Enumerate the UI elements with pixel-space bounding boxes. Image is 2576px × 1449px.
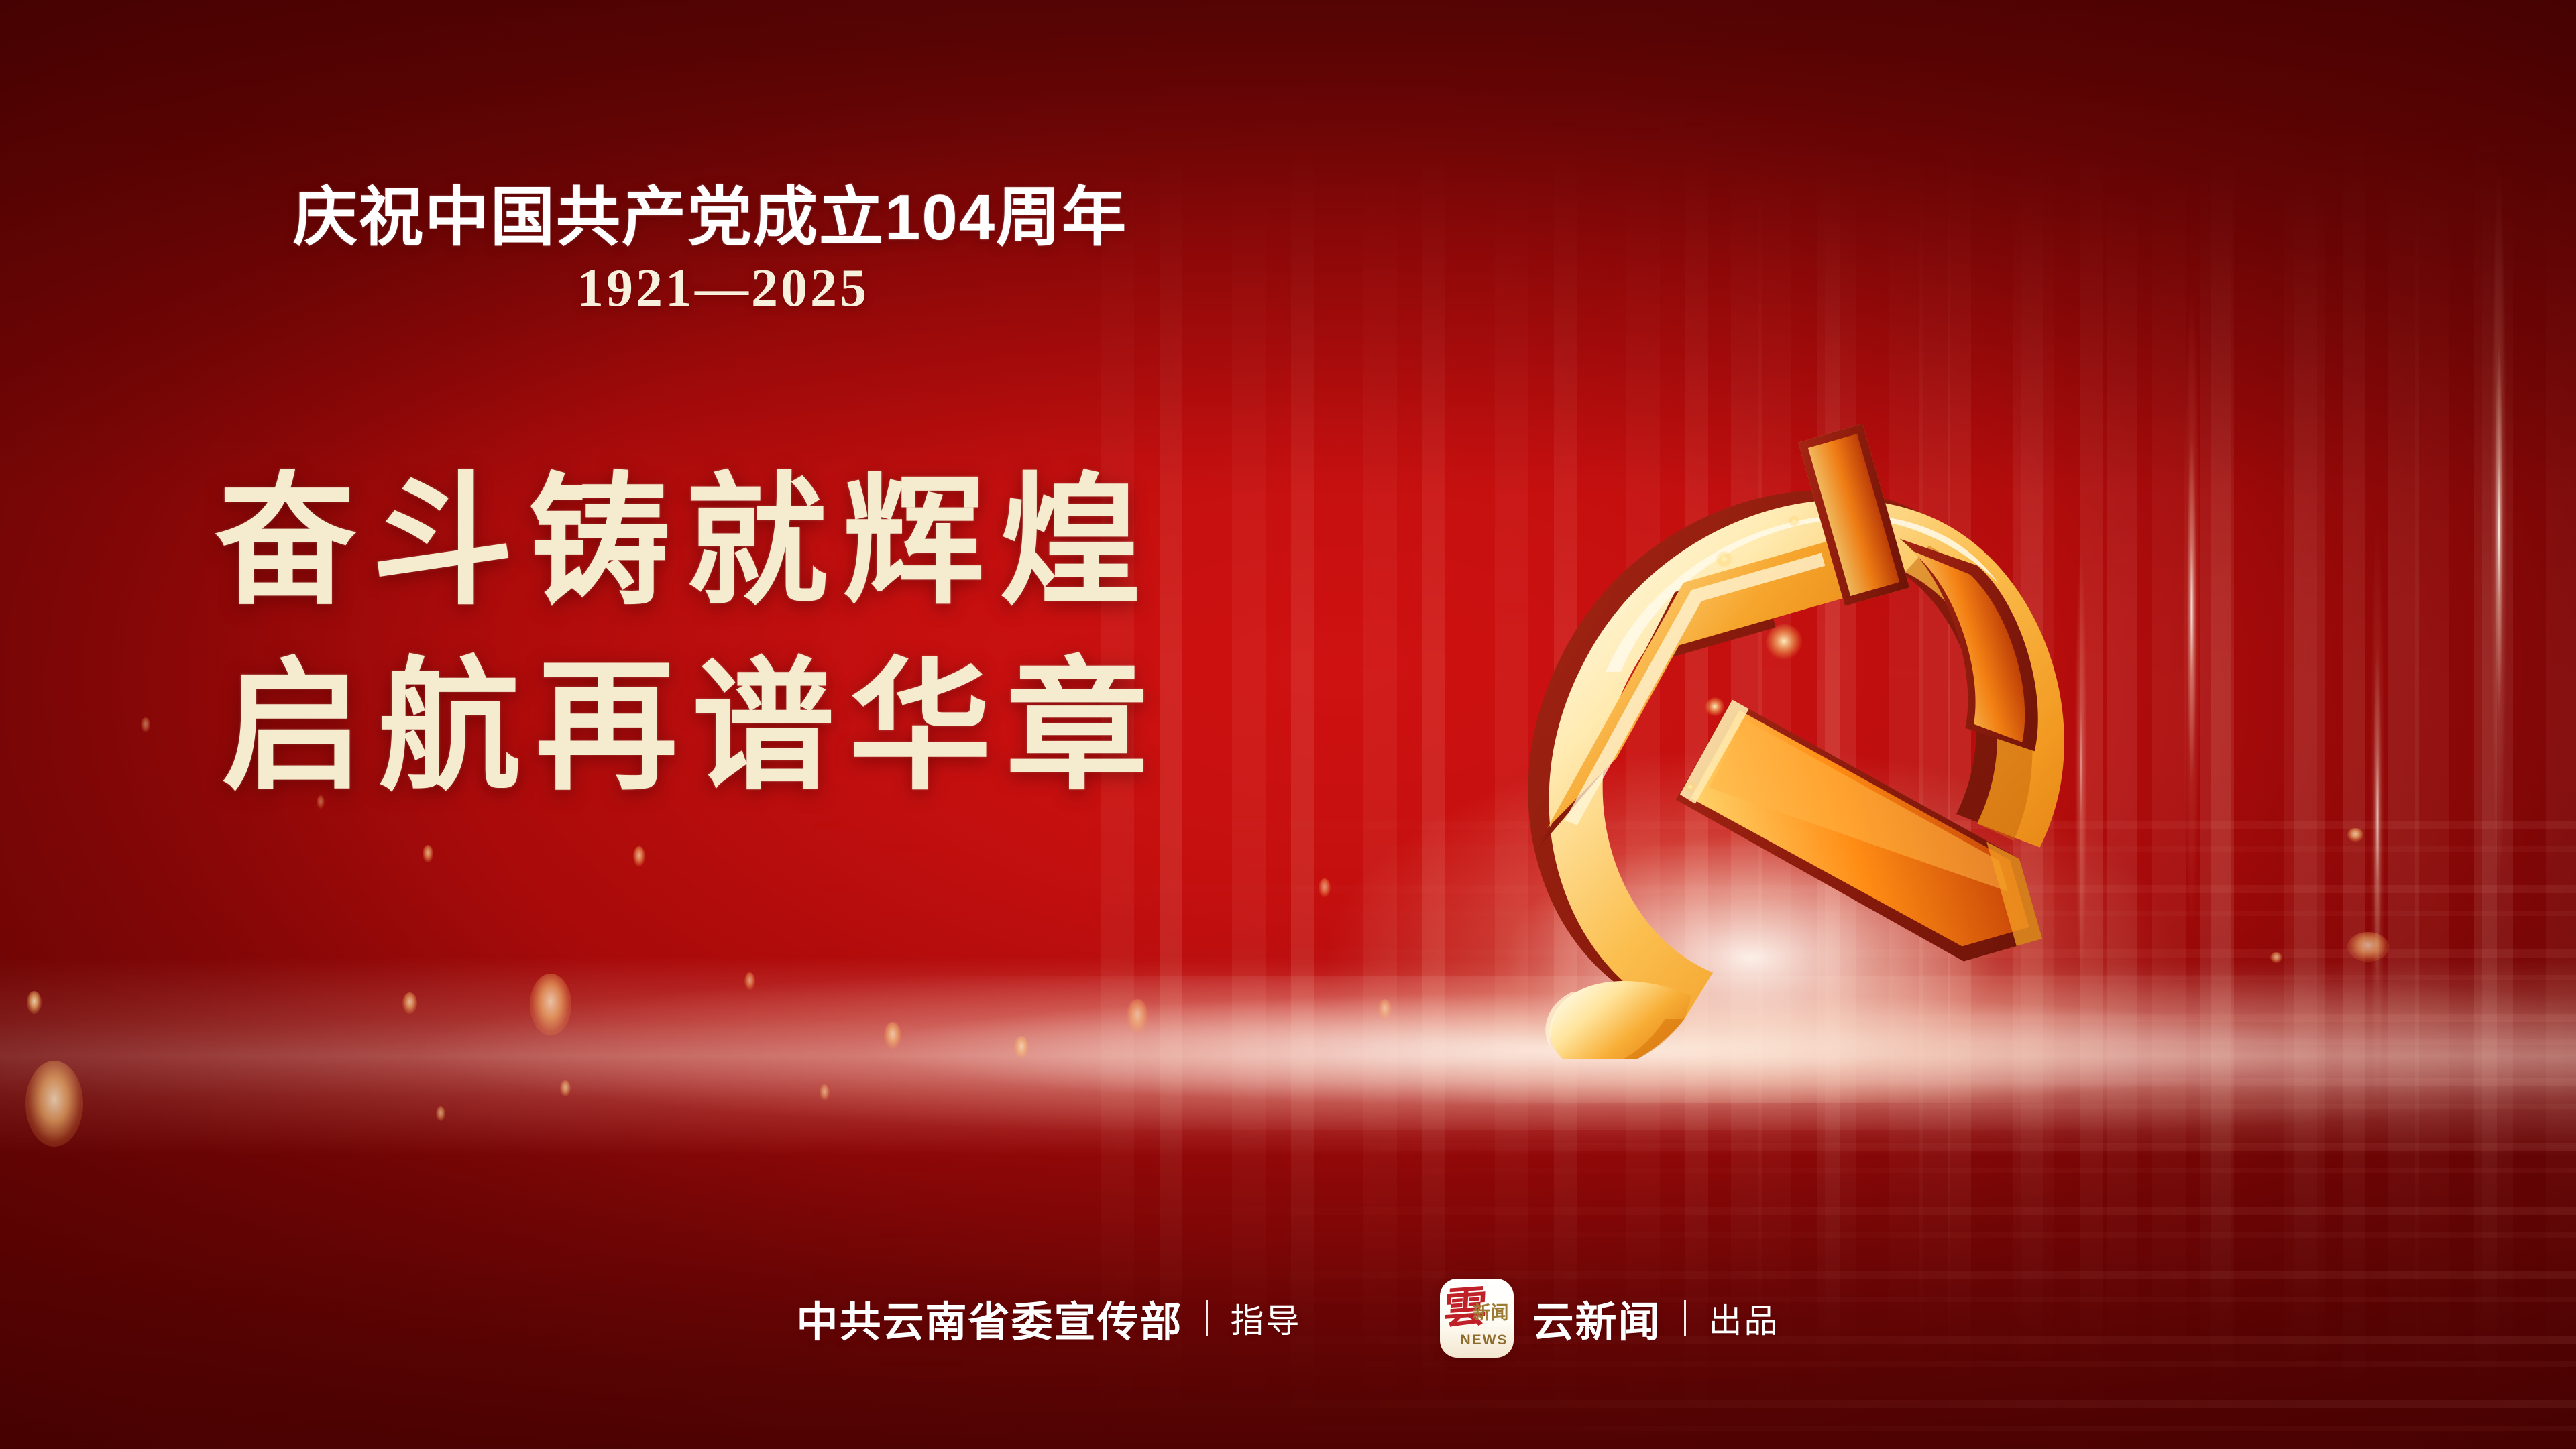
headline-line-1: 奋斗铸就辉煌 bbox=[215, 451, 1163, 636]
headline-slogan: 奋斗铸就辉煌 启航再谱华章 bbox=[215, 451, 1163, 820]
footer-bar: 中共云南省委宣传部 指导 雲 新闻 NEWS 云新闻 出品 bbox=[0, 1278, 2576, 1358]
yun-news-logo-icon: 雲 新闻 NEWS bbox=[1440, 1279, 1514, 1358]
brand-name-label: 云新闻 bbox=[1532, 1288, 1661, 1348]
credit-divider bbox=[1206, 1300, 1208, 1336]
headline-line-2: 启航再谱华章 bbox=[215, 636, 1163, 821]
poster-canvas: 庆祝中国共产党成立104周年 1921—2025 奋斗铸就辉煌 启航再谱华章 中… bbox=[0, 0, 2576, 1449]
text-content: 庆祝中国共产党成立104周年 1921—2025 奋斗铸就辉煌 启航再谱华章 bbox=[0, 0, 2576, 1449]
logo-glyph-news: NEWS bbox=[1461, 1333, 1508, 1347]
producer-credit: 雲 新闻 NEWS 云新闻 出品 bbox=[1440, 1279, 1780, 1358]
year-range-label: 1921—2025 bbox=[577, 258, 869, 319]
brand-divider bbox=[1684, 1300, 1686, 1336]
footer-spacer bbox=[1302, 1318, 1440, 1319]
producer-role-label: 出品 bbox=[1709, 1294, 1780, 1342]
guidance-credit: 中共云南省委宣传部 指导 bbox=[796, 1288, 1301, 1348]
guidance-organization: 中共云南省委宣传部 bbox=[796, 1288, 1182, 1348]
logo-glyph-xinwen: 新闻 bbox=[1473, 1304, 1509, 1322]
guidance-role-label: 指导 bbox=[1231, 1294, 1302, 1342]
anniversary-heading: 庆祝中国共产党成立104周年 bbox=[293, 165, 1127, 258]
